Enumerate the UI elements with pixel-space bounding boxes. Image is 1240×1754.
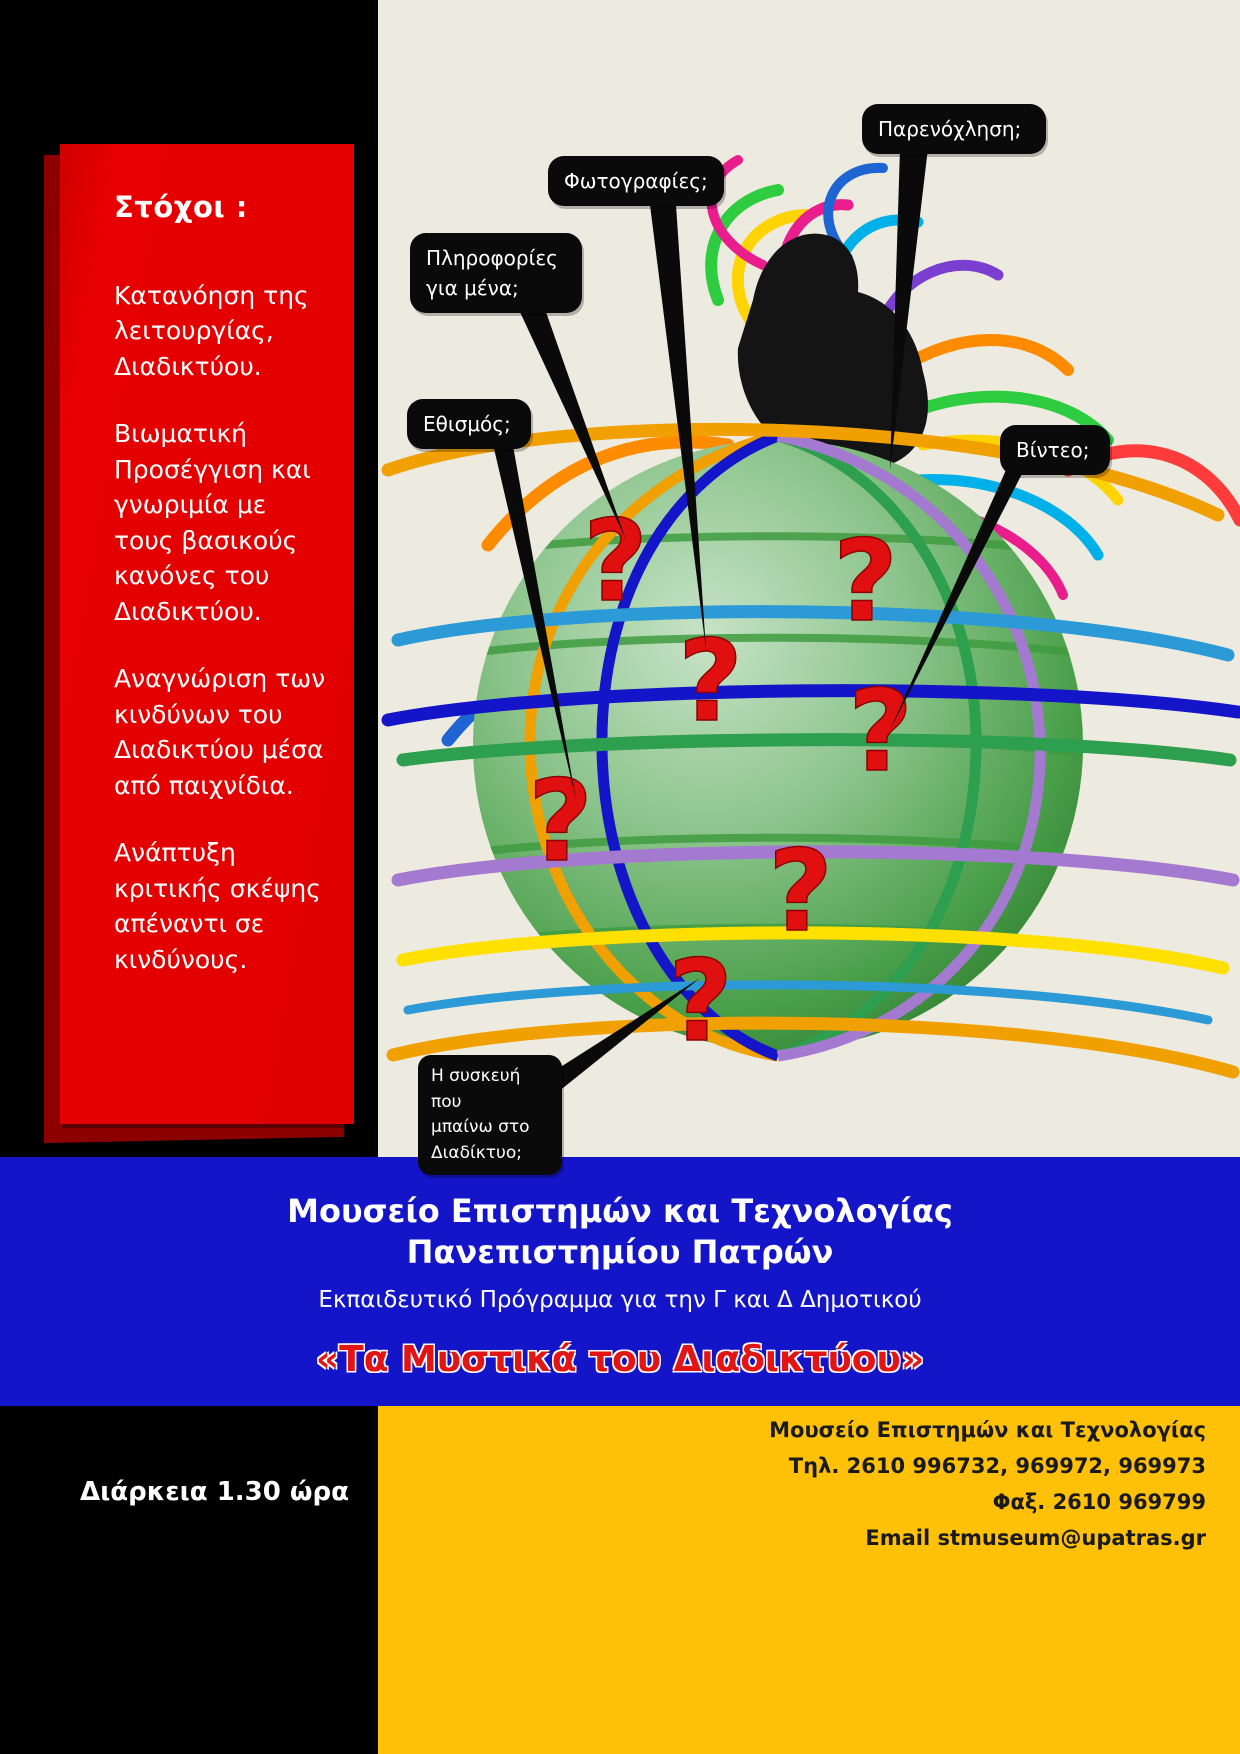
bubble-addiction[interactable]: Εθισμός; [407,399,531,449]
objective-item: Κατανόηση της λειτουργίας, Διαδικτύου. [114,278,326,385]
contact-org: Μουσείο Επιστημών και Τεχνολογίας [769,1412,1206,1448]
program-title: «Τα Μυστικά του Διαδικτύου» [0,1339,1240,1380]
objective-item: Αναγνώριση των κινδύνων του Διαδικτύου μ… [114,661,326,803]
contact-fax: Φαξ. 2610 969799 [769,1484,1206,1520]
question-mark: ? [528,757,593,887]
bubble-harassment[interactable]: Παρενόχληση; [862,104,1046,154]
question-mark: ? [583,497,648,627]
contact-phone: Τηλ. 2610 996732, 969972, 969973 [769,1448,1206,1484]
poster: ? ? ? ? ? ? ? Παρενόχληση; Φωτογραφίες; … [0,0,1240,1754]
program-subtitle: Εκπαιδευτικό Πρόγραμμα για την Γ και Δ Δ… [0,1287,1240,1313]
question-mark: ? [833,517,898,647]
objective-item: Ανάπτυξη κριτικής σκέψης απέναντι σε κιν… [114,835,326,977]
contact-email[interactable]: Email stmuseum@upatras.gr [769,1520,1206,1556]
museum-name-line2: Πανεπιστημίου Πατρών [0,1232,1240,1273]
objectives-panel: Στόχοι : Κατανόηση της λειτουργίας, Διαδ… [60,144,354,1124]
bubble-my-information[interactable]: Πληροφορίες για μένα; [410,233,582,313]
bubble-device[interactable]: Η συσκευή που μπαίνω στο Διαδίκτυο; [418,1055,562,1175]
question-mark: ? [848,667,913,797]
question-mark: ? [678,617,743,747]
globe-illustration: ? ? ? ? ? ? ? [378,0,1240,1157]
question-mark: ? [668,937,733,1067]
bubble-video[interactable]: Βίντεο; [1000,425,1110,475]
footer-band-content: Μουσείο Επιστημών και Τεχνολογίας Πανεπι… [0,1157,1240,1406]
duration-label: Διάρκεια 1.30 ώρα [80,1477,349,1507]
contact-details: Μουσείο Επιστημών και Τεχνολογίας Τηλ. 2… [769,1412,1206,1556]
objectives-title: Στόχοι : [114,192,332,224]
question-mark: ? [768,827,833,957]
bubble-photos[interactable]: Φωτογραφίες; [548,156,724,206]
museum-name-line1: Μουσείο Επιστημών και Τεχνολογίας [0,1191,1240,1232]
objective-item: Βιωματική Προσέγγιση και γνωριμία με του… [114,416,326,629]
